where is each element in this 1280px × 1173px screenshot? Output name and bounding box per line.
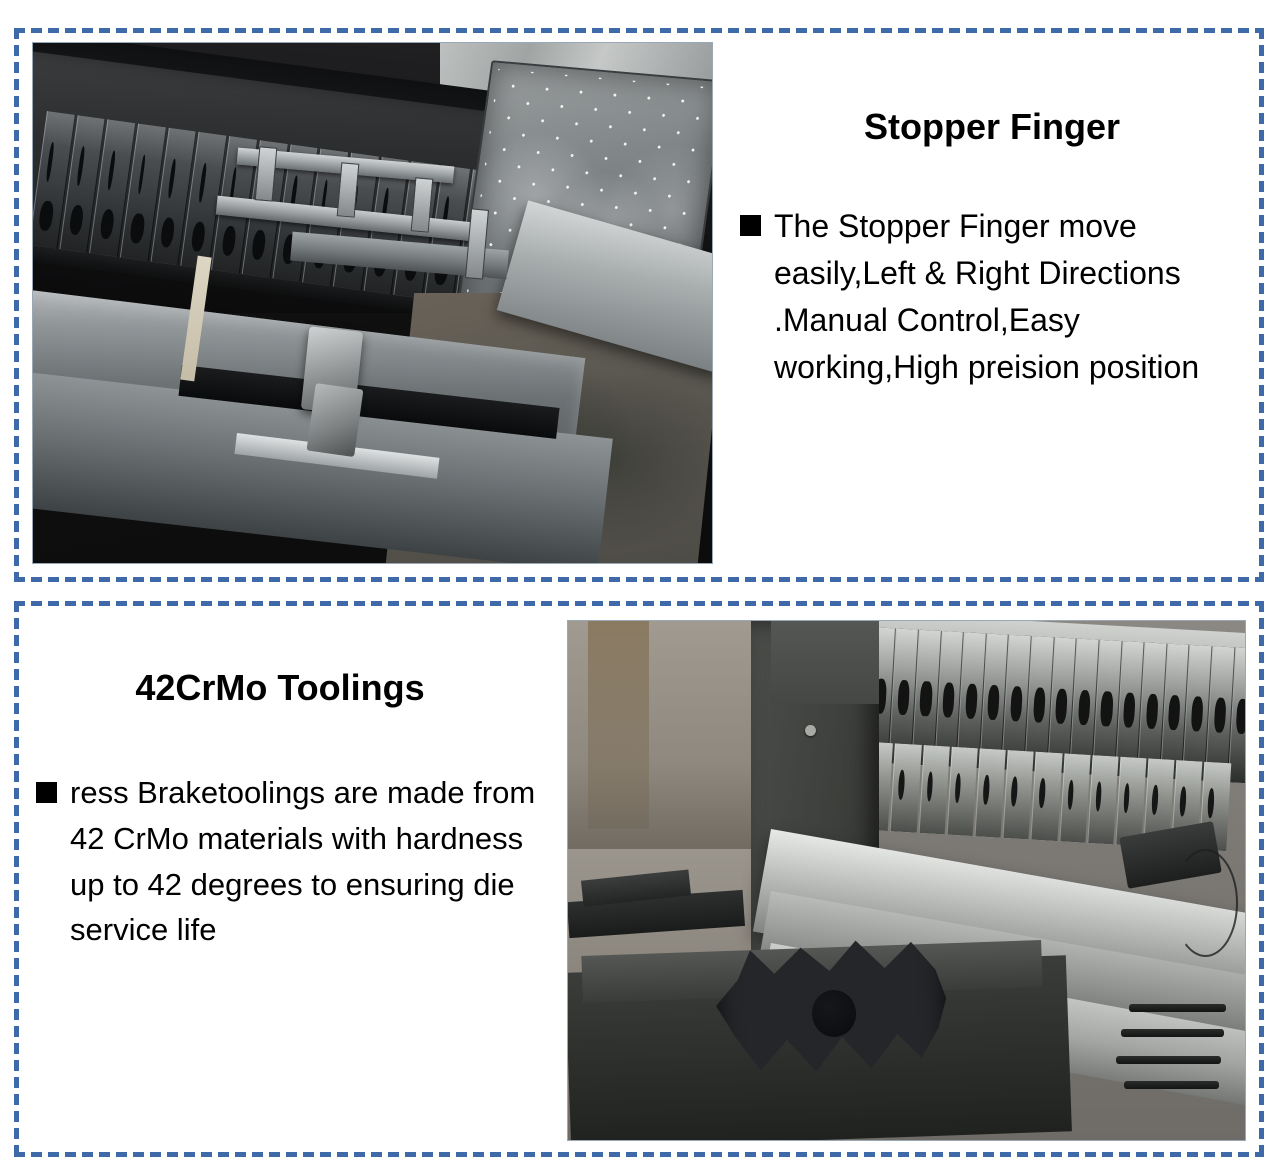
42crmo-tooling-photo	[567, 620, 1246, 1141]
wall-stain	[588, 621, 649, 829]
hydraulic-fitting-2	[1121, 1029, 1223, 1037]
border-top	[14, 601, 1264, 606]
panel-1-heading: Stopper Finger	[740, 106, 1248, 147]
42crmo-text-block: 42CrMo Toolings ress Braketoolings are m…	[36, 667, 544, 953]
border-bottom	[14, 577, 1264, 582]
machine-side-frame-top	[771, 621, 879, 704]
bullet-square-icon	[36, 782, 57, 803]
hydraulic-hose	[1173, 849, 1238, 957]
panel-stopper-finger: Stopper Finger The Stopper Finger move e…	[14, 28, 1264, 582]
panel-42crmo-toolings: 42CrMo Toolings ress Braketoolings are m…	[14, 601, 1264, 1157]
border-left	[14, 601, 19, 1157]
panel-1-bullet-item: The Stopper Finger move easily,Left & Ri…	[740, 203, 1248, 391]
hydraulic-fitting-1	[1129, 1004, 1226, 1012]
border-top	[14, 28, 1264, 33]
panel-2-heading: 42CrMo Toolings	[36, 667, 544, 708]
panel-2-bullet-text: ress Braketoolings are made from 42 CrMo…	[70, 770, 544, 952]
border-bottom	[14, 1152, 1264, 1157]
bullet-square-icon	[740, 215, 761, 236]
frame-bolt	[805, 725, 816, 736]
border-right	[1259, 601, 1264, 1157]
hydraulic-fitting-4	[1124, 1081, 1219, 1089]
border-left	[14, 28, 19, 582]
press-brake-stopper-finger-photo	[32, 42, 713, 564]
panel-2-bullet-item: ress Braketoolings are made from 42 CrMo…	[36, 770, 544, 952]
stopper-finger-text-block: Stopper Finger The Stopper Finger move e…	[740, 106, 1248, 392]
border-right	[1259, 28, 1264, 582]
hydraulic-fitting-3	[1116, 1056, 1221, 1064]
panel-1-bullet-text: The Stopper Finger move easily,Left & Ri…	[774, 203, 1248, 391]
gear-reducer	[307, 383, 363, 457]
hydraulic-fittings-group	[1116, 995, 1238, 1109]
